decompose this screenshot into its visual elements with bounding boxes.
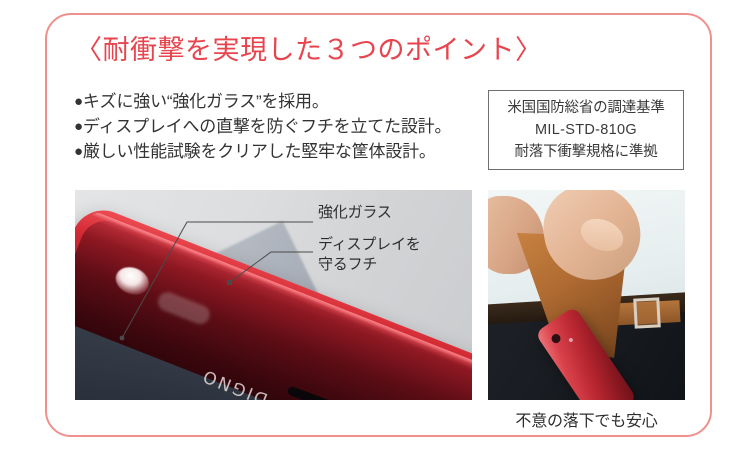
- callout-label-bezel-line2: 守るフチ: [318, 255, 421, 275]
- list-item-label: ディスプレイへの直撃を防ぐフチを立てた設計。: [83, 117, 451, 136]
- callout-label-tempered-glass: 強化ガラス: [318, 203, 392, 223]
- rear-camera-icon: [550, 332, 562, 344]
- led-flash-icon: [568, 337, 574, 343]
- bullet-dot-icon: ●: [74, 143, 83, 160]
- product-closeup-photo: DIGNO 強化ガラス ディスプレイを 守るフチ: [75, 190, 472, 400]
- callout-label-bezel: ディスプレイを 守るフチ: [318, 235, 421, 275]
- list-item: ●キズに強い“強化ガラス”を採用。: [74, 89, 504, 114]
- bullet-dot-icon: ●: [74, 118, 83, 135]
- list-item-label: キズに強い“強化ガラス”を採用。: [83, 92, 329, 111]
- mil-std-code: MIL-STD-810G: [535, 119, 637, 141]
- list-item: ●ディスプレイへの直撃を防ぐフチを立てた設計。: [74, 114, 504, 139]
- list-item: ●厳しい性能試験をクリアした堅牢な筐体設計。: [74, 139, 504, 164]
- page-title: 〈耐衝撃を実現した３つのポイント〉: [75, 37, 543, 64]
- feature-bullet-list: ●キズに強い“強化ガラス”を採用。 ●ディスプレイへの直撃を防ぐフチを立てた設計…: [74, 89, 504, 164]
- mil-std-certification-box: 米国国防総省の調達基準 MIL-STD-810G 耐落下衝撃規格に準拠: [488, 90, 684, 170]
- belt-buckle: [633, 297, 661, 328]
- bullet-dot-icon: ●: [74, 93, 83, 110]
- list-item-label: 厳しい性能試験をクリアした堅牢な筐体設計。: [83, 142, 436, 161]
- mil-std-line-3: 耐落下衝撃規格に準拠: [515, 141, 658, 163]
- mil-std-line-1: 米国国防総省の調達基準: [507, 97, 664, 119]
- drop-scenario-photo: [488, 190, 685, 400]
- feature-card: 〈耐衝撃を実現した３つのポイント〉 ●キズに強い“強化ガラス”を採用。 ●ディス…: [45, 13, 712, 437]
- photo-caption: 不意の落下でも安心: [488, 407, 685, 431]
- callout-label-bezel-line1: ディスプレイを: [318, 235, 421, 255]
